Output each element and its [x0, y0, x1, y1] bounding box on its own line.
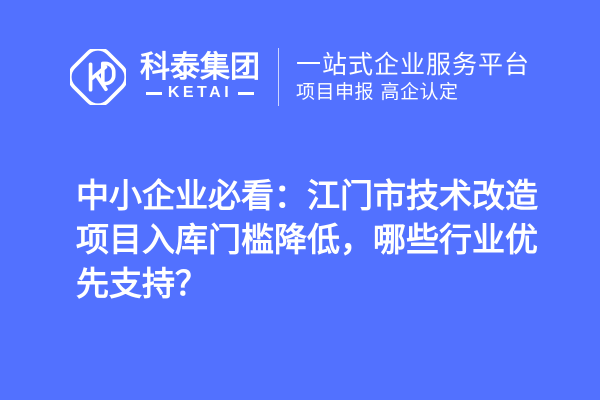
- brand-wordmark: 科泰集团 KETAI: [140, 53, 260, 102]
- banner-header: 科泰集团 KETAI 一站式企业服务平台 项目申报 高企认定: [0, 34, 600, 120]
- brand-tagline: 一站式企业服务平台 项目申报 高企认定: [296, 51, 530, 103]
- page-title: 中小企业必看：江门市技术改造项目入库门槛降低，哪些行业优先支持？: [76, 174, 568, 306]
- promo-banner: 科泰集团 KETAI 一站式企业服务平台 项目申报 高企认定 中小企业必看：江门…: [0, 0, 600, 400]
- brand-name-en-row: KETAI: [140, 85, 260, 101]
- header-divider: [278, 48, 279, 106]
- wordmark-rule-right-icon: [238, 92, 254, 95]
- ketai-logo-icon: [70, 49, 126, 105]
- wordmark-rule-left-icon: [146, 92, 162, 95]
- tagline-secondary: 项目申报 高企认定: [296, 82, 530, 103]
- brand-name-cn: 科泰集团: [140, 53, 260, 84]
- brand-name-en: KETAI: [168, 85, 232, 101]
- tagline-primary: 一站式企业服务平台: [296, 51, 530, 79]
- brand-lockup[interactable]: 科泰集团 KETAI: [70, 49, 260, 105]
